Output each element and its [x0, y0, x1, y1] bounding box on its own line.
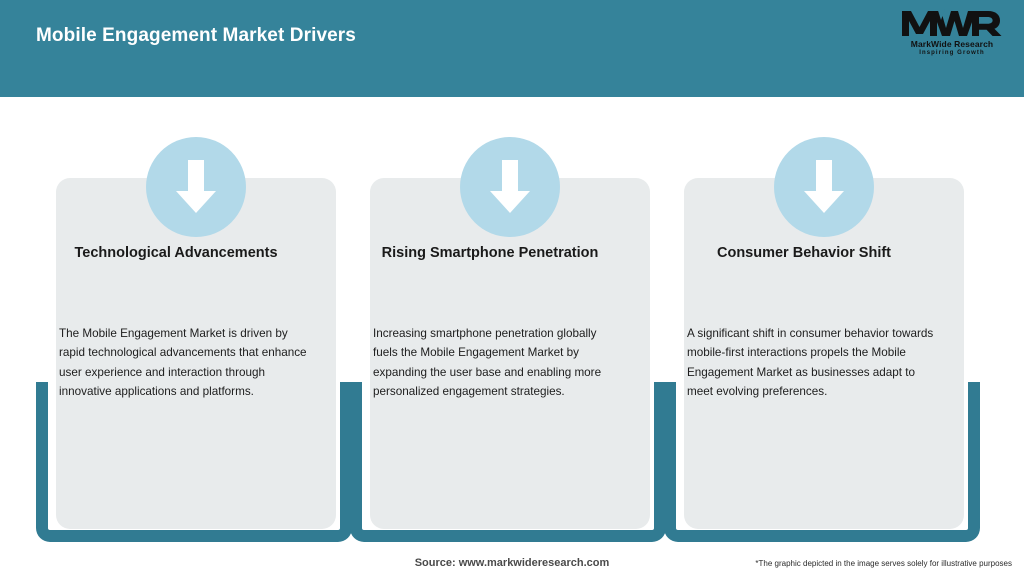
card-body: Increasing smartphone penetration global… — [373, 324, 621, 402]
header-bar: Mobile Engagement Market Drivers MarkWid… — [0, 0, 1024, 97]
page-title: Mobile Engagement Market Drivers — [36, 25, 356, 47]
card-title: Consumer Behavior Shift — [686, 242, 922, 264]
arrow-down-icon — [146, 137, 246, 237]
card-title: Technological Advancements — [58, 242, 294, 264]
driver-card: Rising Smartphone Penetration Increasing… — [350, 97, 666, 547]
disclaimer-label: *The graphic depicted in the image serve… — [755, 559, 1012, 568]
logo-name: MarkWide Research — [896, 39, 1008, 49]
driver-card: Technological Advancements The Mobile En… — [36, 97, 352, 547]
card-body: A significant shift in consumer behavior… — [687, 324, 935, 402]
card-body: The Mobile Engagement Market is driven b… — [59, 324, 307, 402]
driver-card: Consumer Behavior Shift A significant sh… — [664, 97, 980, 547]
mwr-logo-icon — [896, 8, 1008, 38]
brand-logo: MarkWide Research Inspiring Growth — [896, 8, 1008, 64]
logo-tagline: Inspiring Growth — [896, 50, 1008, 56]
arrow-down-icon — [460, 137, 560, 237]
drivers-card-grid: Technological Advancements The Mobile En… — [0, 97, 1024, 547]
arrow-down-icon — [774, 137, 874, 237]
card-title: Rising Smartphone Penetration — [372, 242, 608, 264]
